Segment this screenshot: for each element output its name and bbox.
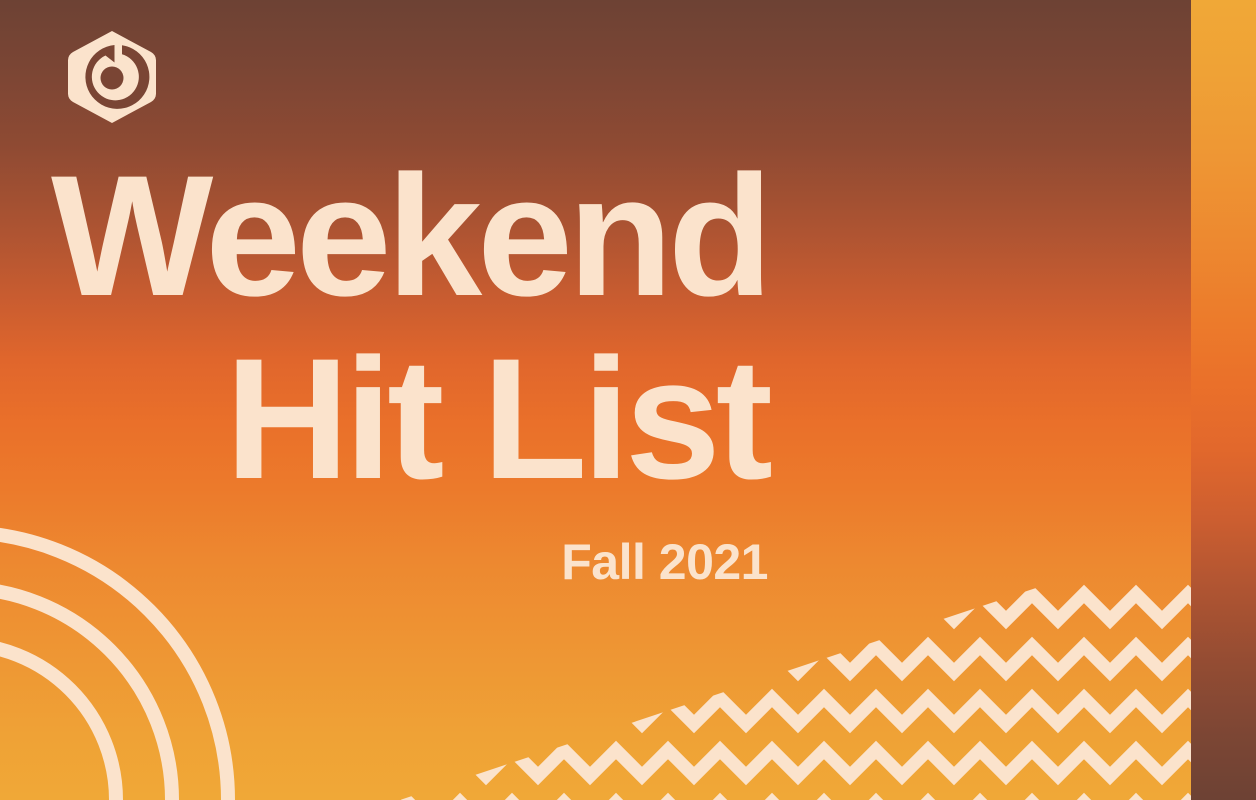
arc-outer [0, 532, 228, 800]
arc-middle [0, 588, 172, 800]
poster-title-line-2-text: Hit List [225, 338, 768, 501]
right-edge-gradient-strip [1191, 0, 1256, 800]
hexagon-spiral-logo-icon[interactable] [68, 31, 156, 123]
zigzag-row [330, 698, 1191, 724]
arc-inner [0, 644, 116, 800]
poster-canvas: Weekend Hit List Fall 2021 [0, 0, 1256, 800]
poster-title-line-1-text: Weekend [51, 155, 768, 318]
background-gradient: Weekend Hit List Fall 2021 [0, 0, 1191, 800]
poster-subtitle-text: Fall 2021 [561, 537, 768, 587]
zigzag-row [330, 646, 1191, 672]
zigzag-row [330, 750, 1191, 776]
zigzag-row [330, 594, 1191, 620]
